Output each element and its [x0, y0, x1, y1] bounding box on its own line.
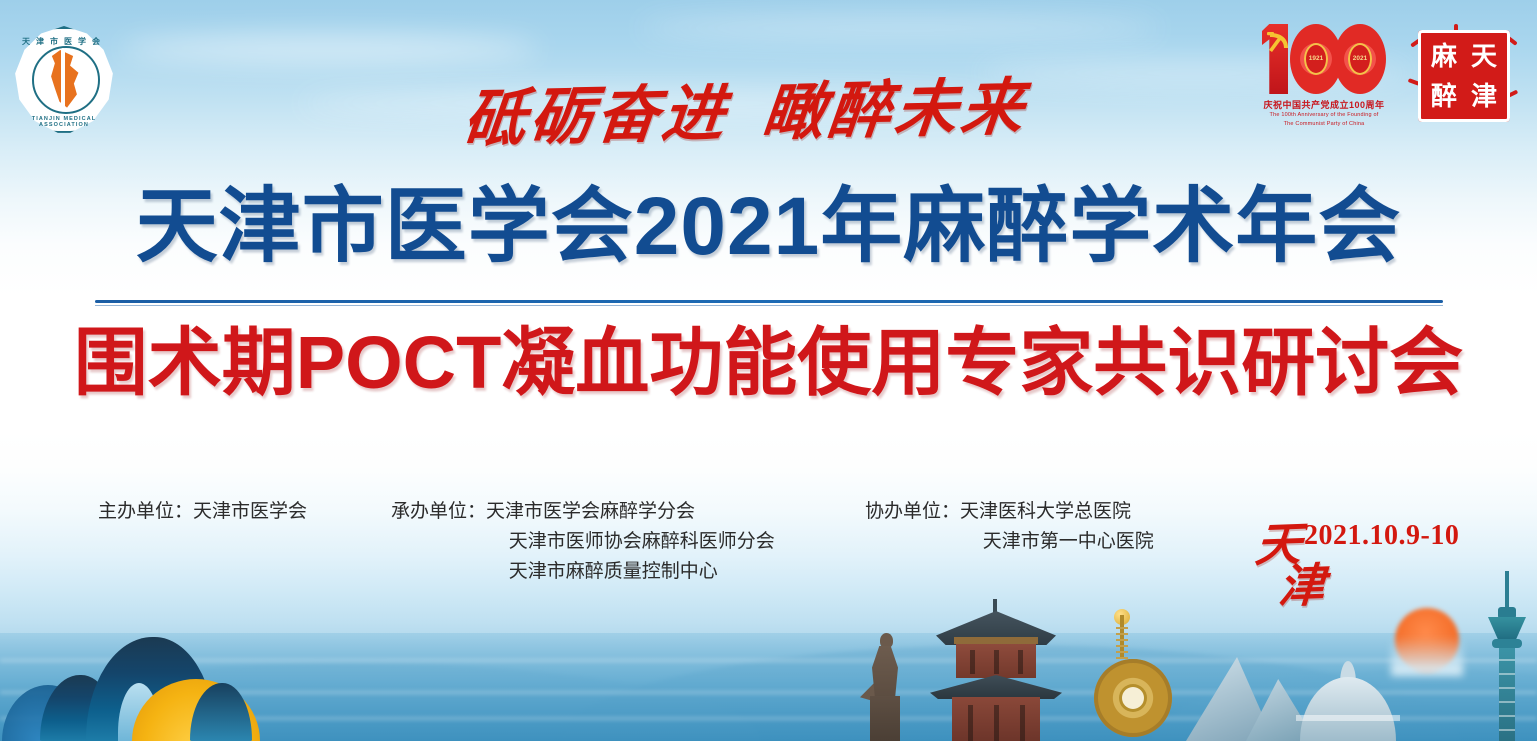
- cloud-wisp: [640, 18, 1160, 38]
- tower-ring: [1492, 639, 1522, 648]
- pagoda-lower-body: [952, 697, 1040, 741]
- statue-base: [870, 696, 900, 741]
- memorial-statue: [862, 633, 908, 741]
- date-block: 天 津 2021.10.9-10: [1254, 512, 1494, 622]
- cpc-caption-cn: 庆祝中国共产党成立100周年: [1256, 98, 1392, 111]
- logo-text-cn: 天津市医学会: [12, 36, 116, 47]
- calligraphy-slogan: 砥砺奋进瞰醉未来: [460, 56, 1051, 160]
- cpc-year-start: 1921: [1304, 55, 1328, 62]
- tower-truss: [1116, 627, 1128, 661]
- drum-tower-pagoda: [930, 599, 1062, 741]
- organizer-name: 天津医科大学总医院: [960, 501, 1131, 522]
- tower-rung: [1499, 659, 1515, 661]
- logo-text-en: TIANJIN MEDICAL ASSOCIATION: [12, 116, 116, 128]
- cpc-100th-anniversary-logo: 1921 2021 庆祝中国共产党成立100周年 The 100th Anniv…: [1256, 22, 1392, 134]
- tower-rung: [1499, 687, 1515, 689]
- organizer-name: 天津市医师协会麻醉科医师分会: [391, 527, 775, 557]
- tianjin-anesthesia-seal: 麻 天 醉 津: [1408, 24, 1520, 128]
- tianjin-medical-association-logo: 天津市医学会 TIANJIN MEDICAL ASSOCIATION: [12, 26, 116, 134]
- city-char-2: 津: [1277, 565, 1326, 609]
- organizer-column-undertaker: 承办单位：天津市医学会麻醉学分会 天津市医师协会麻醉科医师分会 天津市麻醉质量控…: [391, 497, 775, 587]
- page-subtitle: 围术期POCT凝血功能使用专家共识研讨会: [0, 326, 1537, 400]
- cpc-caption-en-line2: The Communist Party of China: [1256, 121, 1392, 127]
- cpc-caption-en-line1: The 100th Anniversary of the Founding of: [1256, 112, 1392, 118]
- statue-body: [872, 646, 898, 700]
- organizer-label: 协办单位：: [865, 501, 960, 522]
- pagoda-upper-body: [956, 644, 1036, 678]
- organizer-name: 天津市医学会: [193, 501, 307, 522]
- pagoda-eave: [954, 637, 1038, 644]
- seal-char: 津: [1471, 83, 1497, 109]
- cpc-year-end: 2021: [1348, 55, 1372, 62]
- cloud-wisp: [120, 36, 540, 62]
- page-title: 天津市医学会2021年麻醉学术年会: [0, 186, 1537, 268]
- slogan-part-1: 砥砺奋进: [460, 81, 732, 155]
- organizer-column-coorganizer: 协办单位：天津医科大学总医院 天津市第一中心医院: [865, 497, 1154, 557]
- tower-rung: [1499, 715, 1515, 717]
- pagoda-column: [1020, 705, 1025, 741]
- pagoda-column: [968, 705, 973, 741]
- hammer-and-sickle-icon: [1266, 30, 1292, 54]
- pagoda-column: [994, 650, 999, 674]
- seal-char: 麻: [1431, 43, 1457, 69]
- cpc-numeral-mark: 1921 2021: [1260, 22, 1388, 96]
- tower-rung: [1499, 701, 1515, 703]
- pagoda-lower-roof: [930, 675, 1062, 699]
- organizer-column-host: 主办单位：天津市医学会: [98, 497, 307, 527]
- ferris-wheel: [1076, 615, 1168, 741]
- seal-characters: 麻 天 醉 津: [1424, 36, 1504, 116]
- dome-base-ring: [1296, 715, 1400, 721]
- title-divider: [95, 300, 1443, 303]
- organizer-name: 天津市麻醉质量控制中心: [391, 557, 775, 587]
- asclepius-rod-icon: [61, 48, 65, 110]
- statue-head: [880, 633, 893, 648]
- sun-haze: [1391, 636, 1463, 676]
- seal-char: 醉: [1431, 83, 1457, 109]
- organizer-name: 天津市医学会麻醉学分会: [486, 501, 695, 522]
- pagoda-column: [970, 650, 975, 674]
- organizer-label: 承办单位：: [391, 501, 486, 522]
- conference-banner: 天津市医学会 TIANJIN MEDICAL ASSOCIATION 1921 …: [0, 0, 1537, 741]
- organizer-label: 主办单位：: [98, 501, 193, 522]
- tower-rung: [1499, 729, 1515, 731]
- pagoda-column: [994, 705, 999, 741]
- title-divider-thin: [95, 305, 1443, 306]
- wheel-hub: [1122, 687, 1144, 709]
- pagoda-column: [1018, 650, 1023, 674]
- water-streak: [0, 659, 1537, 662]
- event-date: 2021.10.9-10: [1304, 520, 1459, 552]
- tower-shaft: [1499, 648, 1515, 741]
- tower-rung: [1499, 673, 1515, 675]
- slogan-part-2: 瞰醉未来: [759, 74, 1031, 148]
- seal-char: 天: [1471, 43, 1497, 69]
- organizer-name: 天津市第一中心医院: [865, 527, 1154, 557]
